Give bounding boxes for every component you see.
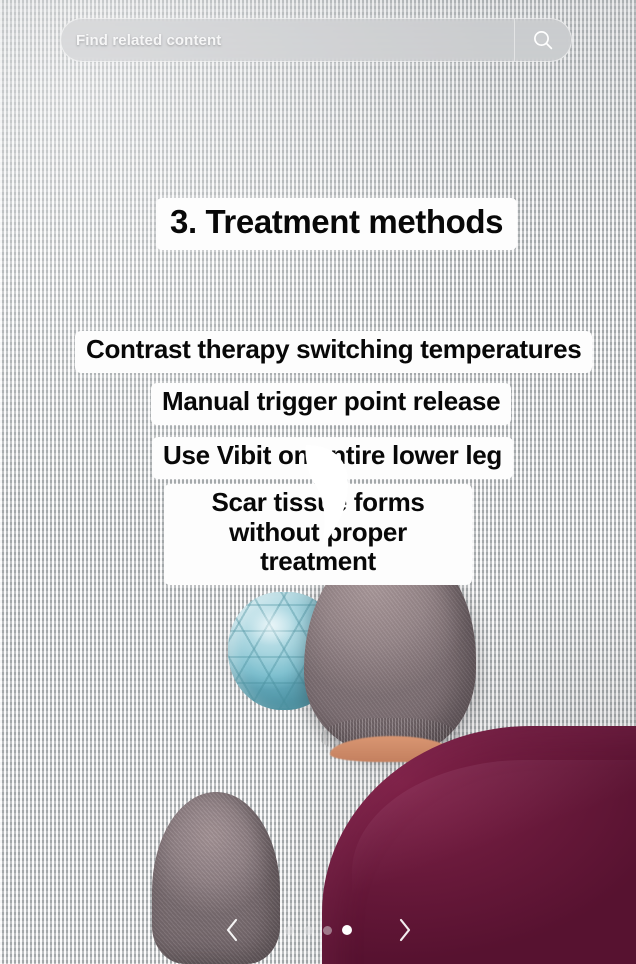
- slide-indicator-dots: [285, 925, 352, 935]
- bullet-line-4: Scar tissue forms without proper treatme…: [164, 484, 472, 585]
- bottom-navigation: [0, 910, 636, 950]
- next-slide-button[interactable]: [392, 915, 418, 945]
- prev-slide-button[interactable]: [219, 915, 245, 945]
- search-button[interactable]: [515, 18, 571, 62]
- bullet-line-3: Use Vibit on entire lower leg: [152, 437, 513, 479]
- search-icon: [531, 28, 555, 52]
- bullet-line-1: Contrast therapy switching temperatures: [75, 331, 592, 373]
- slide-dot[interactable]: [285, 926, 294, 935]
- bullet-line-2: Manual trigger point release: [151, 383, 511, 425]
- slide-dot[interactable]: [323, 926, 332, 935]
- slide-dot-active[interactable]: [342, 925, 352, 935]
- search-bar[interactable]: Find related content: [60, 18, 572, 62]
- chevron-left-icon: [223, 917, 241, 943]
- slide-title: 3. Treatment methods: [156, 198, 517, 250]
- slide-dot[interactable]: [304, 926, 313, 935]
- story-screen: Find related content 3. Treatment method…: [0, 0, 636, 964]
- search-input[interactable]: Find related content: [61, 32, 514, 49]
- chevron-right-icon: [396, 917, 414, 943]
